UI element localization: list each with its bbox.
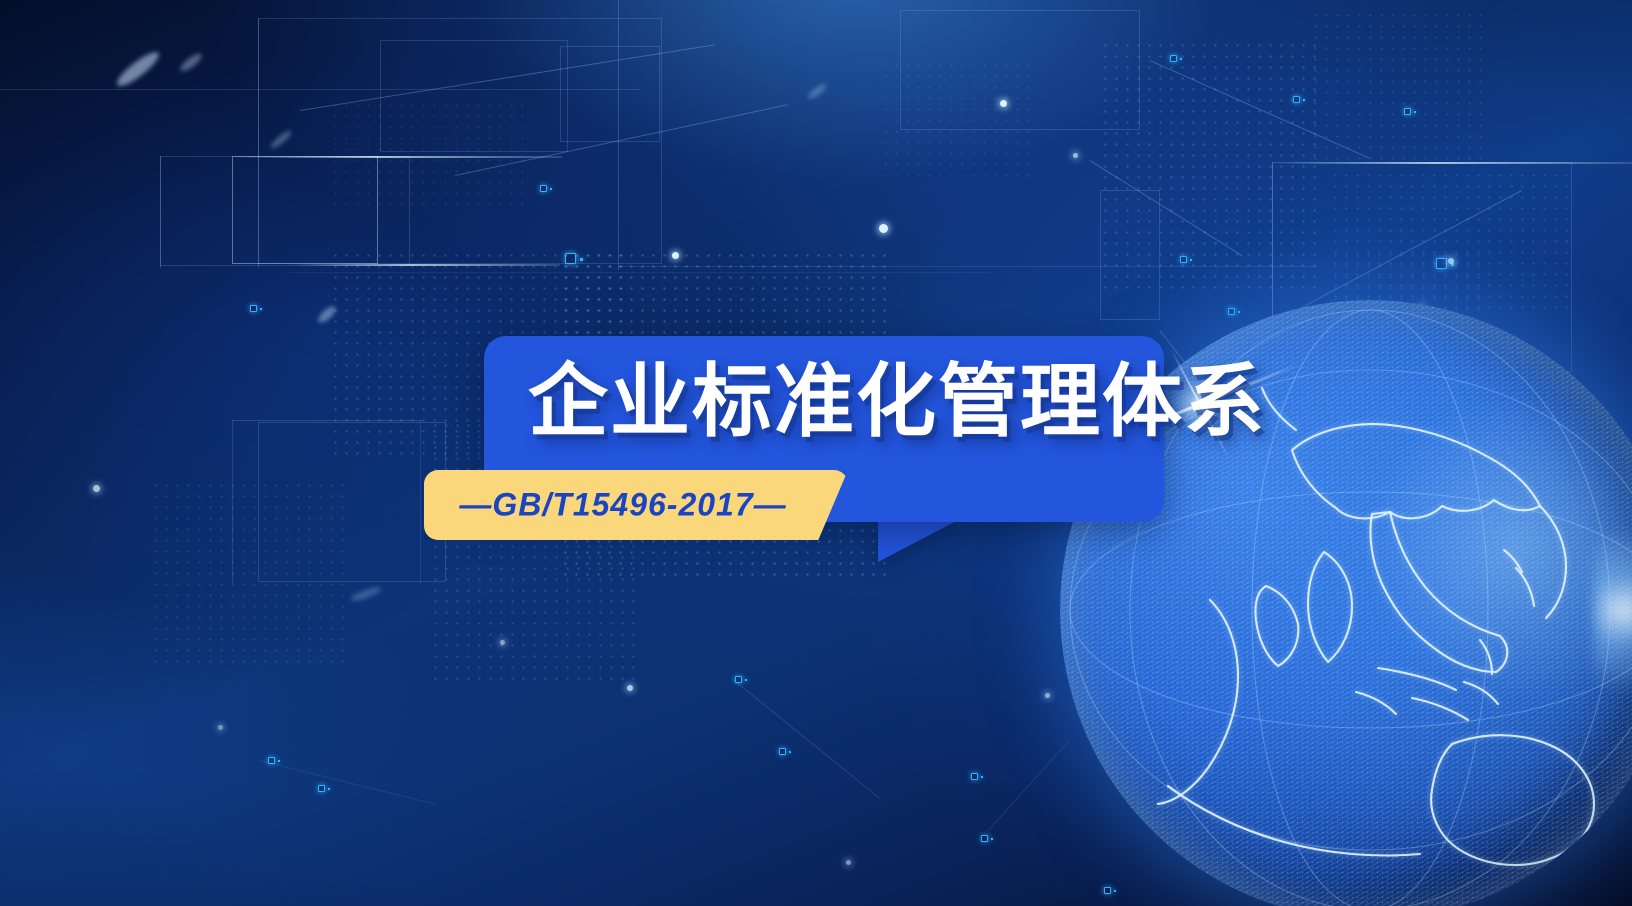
wireframe-rect [900,10,1140,130]
connector-line [988,741,1069,831]
glow-particle [1448,258,1454,264]
hud-line [160,156,161,268]
dot-matrix-grid [1310,10,1490,160]
page-title: 企业标准化管理体系 [528,362,1128,442]
hud-line [258,18,259,268]
glow-particle [1000,100,1007,107]
hud-square-marker-icon [971,773,978,780]
light-streak [178,51,204,74]
light-streak [113,47,163,90]
light-streak [806,82,828,101]
hud-square-marker-icon [540,185,547,192]
standard-code-label: —GB/T15496-2017— [424,487,848,524]
globe-edge-flare [1594,525,1632,695]
wireframe-rect [232,156,378,264]
hud-square-marker-icon [1180,256,1187,263]
subtitle-banner: —GB/T15496-2017— [424,470,848,540]
glow-particle [1073,153,1078,158]
slide-canvas: 企业标准化管理体系 —GB/T15496-2017— [0,0,1632,906]
glow-particle [879,224,888,233]
hud-square-marker-icon [1170,55,1177,62]
hud-square-marker-icon [1293,96,1300,103]
wireframe-rect [380,40,568,152]
speech-bubble-tail [878,516,966,562]
hud-square-marker-icon [981,835,988,842]
hud-line [618,0,619,270]
hud-line [232,156,562,158]
hud-square-marker-icon [1404,108,1411,115]
hud-line [1272,162,1632,164]
hud-square-marker-icon [1436,258,1447,269]
hud-line [0,89,640,90]
glow-particle [1045,693,1050,698]
